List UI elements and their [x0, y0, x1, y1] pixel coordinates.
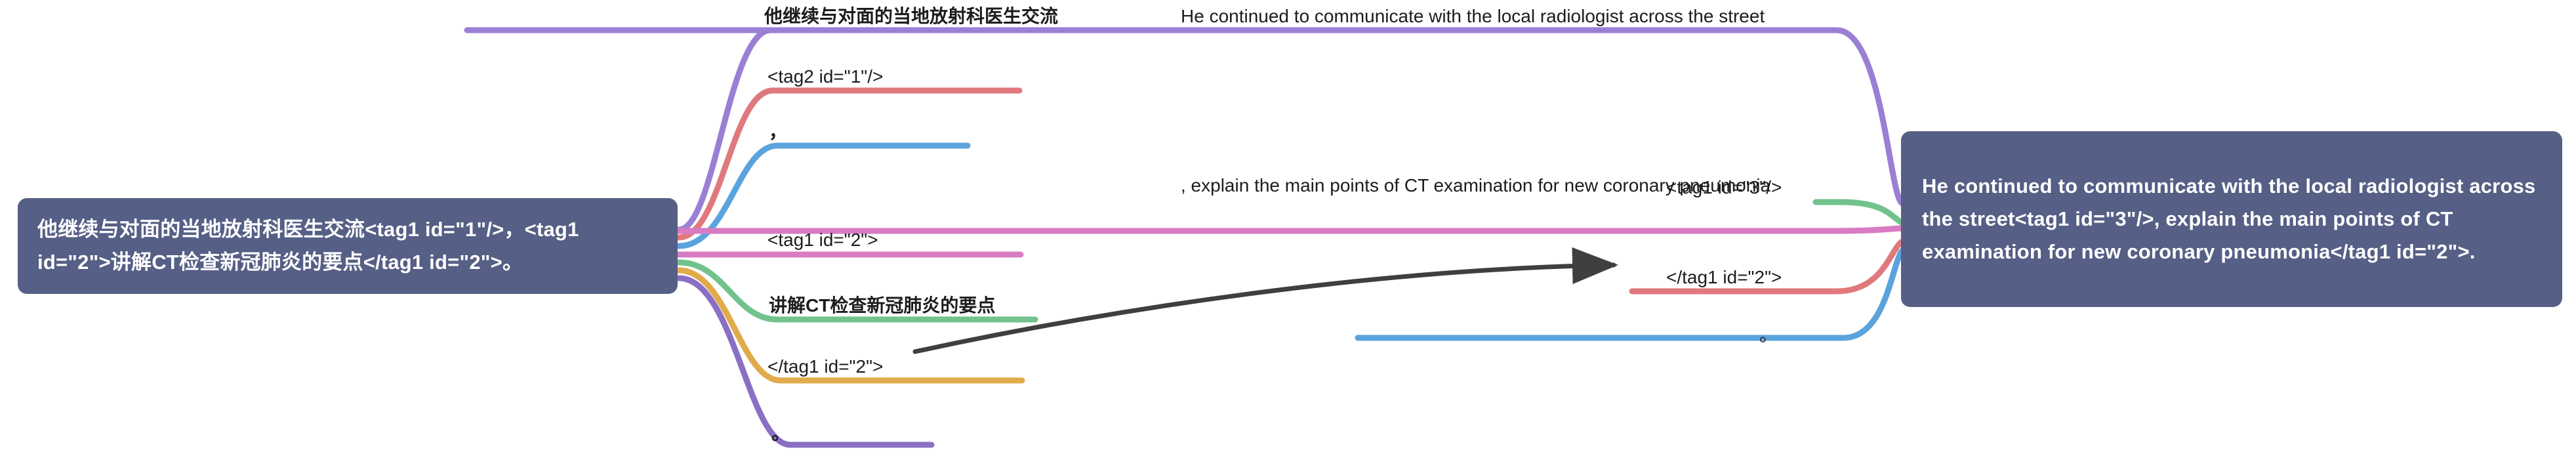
target-segment-label-0[interactable]: He continued to communicate with the loc…	[1181, 3, 1771, 31]
target-segment-label-2[interactable]: , explain the main points of CT examinat…	[1181, 172, 1771, 200]
source-segment-label-4[interactable]: 讲解CT检查新冠肺炎的要点	[769, 292, 1084, 320]
target-segment-label-4[interactable]: 。	[1759, 321, 1956, 350]
edge-tgt-1	[1816, 202, 1902, 223]
source-segment-label-1[interactable]: <tag2 id="1"/>	[767, 63, 1056, 91]
source-segment-label-0[interactable]: 他继续与对面的当地放射科医生交流	[764, 3, 1105, 31]
source-segment-label-5[interactable]: </tag1 id="2">	[767, 353, 1056, 381]
target-sentence-text: He continued to communicate with the loc…	[1922, 170, 2541, 269]
edge-src-1	[679, 91, 1019, 237]
source-segment-label-2[interactable]: ，	[769, 118, 966, 146]
alignment-diagram-canvas: 他继续与对面的当地放射科医生交流<tag1 id="1"/>，<tag1 id=…	[0, 0, 2576, 452]
target-segment-label-3[interactable]: </tag1 id="2">	[1666, 264, 1955, 292]
source-sentence-text: 他继续与对面的当地放射科医生交流<tag1 id="1"/>，<tag1 id=…	[37, 213, 658, 279]
edge-tgt-2	[467, 228, 1902, 231]
source-segment-label-6[interactable]: 。	[771, 420, 968, 448]
target-sentence-box[interactable]: He continued to communicate with the loc…	[1901, 131, 2562, 307]
source-segment-label-3[interactable]: <tag1 id="2">	[767, 226, 1056, 255]
source-sentence-box[interactable]: 他继续与对面的当地放射科医生交流<tag1 id="1"/>，<tag1 id=…	[18, 198, 678, 294]
